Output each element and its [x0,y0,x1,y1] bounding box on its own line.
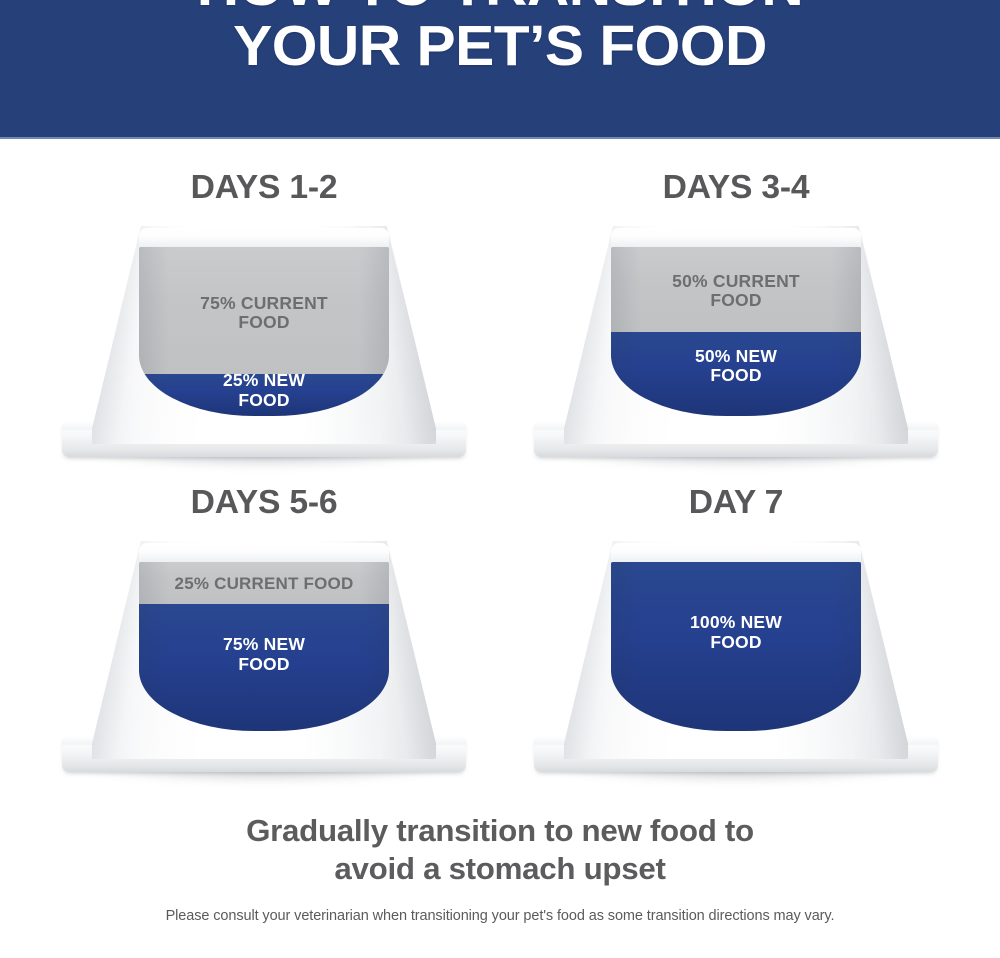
step-days-1-2: DAYS 1-2 75% CURRENT FOOD 25% NEW FOOD [14,167,514,497]
tagline-line-1: Gradually transition to new food to [246,813,754,848]
bowl-rim [139,543,389,562]
pet-bowl-icon: 50% CURRENT FOOD 50% NEW FOOD [526,220,946,465]
food-fill [139,247,389,416]
step-days-5-6: DAYS 5-6 25% CURRENT FOOD 75% NEW FOOD [14,482,514,812]
current-food-portion [139,562,389,604]
step-heading: DAYS 5-6 [9,482,519,522]
header-band: HOW TO TRANSITION YOUR PET’S FOOD [0,0,1000,139]
tagline-line-2: avoid a stomach upset [0,850,1000,888]
food-fill [611,562,861,731]
current-food-portion [611,247,861,332]
bowl-cavity: 25% CURRENT FOOD 75% NEW FOOD [139,543,389,731]
bowl-rim [611,228,861,247]
step-heading: DAYS 1-2 [9,167,519,207]
step-heading: DAY 7 [481,482,991,522]
pet-bowl-icon: 25% CURRENT FOOD 75% NEW FOOD [54,535,474,780]
page-title: HOW TO TRANSITION YOUR PET’S FOOD [0,0,1000,76]
page-title-line-2: YOUR PET’S FOOD [0,16,1000,76]
new-food-portion [139,374,389,416]
new-food-portion [611,562,861,731]
pet-bowl-icon: 75% CURRENT FOOD 25% NEW FOOD [54,220,474,465]
disclaimer-text: Please consult your veterinarian when tr… [0,906,1000,926]
step-days-3-4: DAYS 3-4 50% CURRENT FOOD 50% NEW FOOD [486,167,986,497]
bowl-rim [611,543,861,562]
step-day-7: DAY 7 100% NEW FOOD [486,482,986,812]
pet-bowl-icon: 100% NEW FOOD [526,535,946,780]
bowl-cavity: 75% CURRENT FOOD 25% NEW FOOD [139,228,389,416]
new-food-portion [139,604,389,731]
current-food-portion [139,247,389,374]
step-heading: DAYS 3-4 [481,167,991,207]
transition-steps-grid: DAYS 1-2 75% CURRENT FOOD 25% NEW FOOD [0,139,1000,809]
food-fill [611,247,861,416]
bowl-rim [139,228,389,247]
bowl-cavity: 100% NEW FOOD [611,543,861,731]
new-food-portion [611,332,861,417]
tagline: Gradually transition to new food to avoi… [0,812,1000,888]
bowl-cavity: 50% CURRENT FOOD 50% NEW FOOD [611,228,861,416]
food-fill [139,562,389,731]
